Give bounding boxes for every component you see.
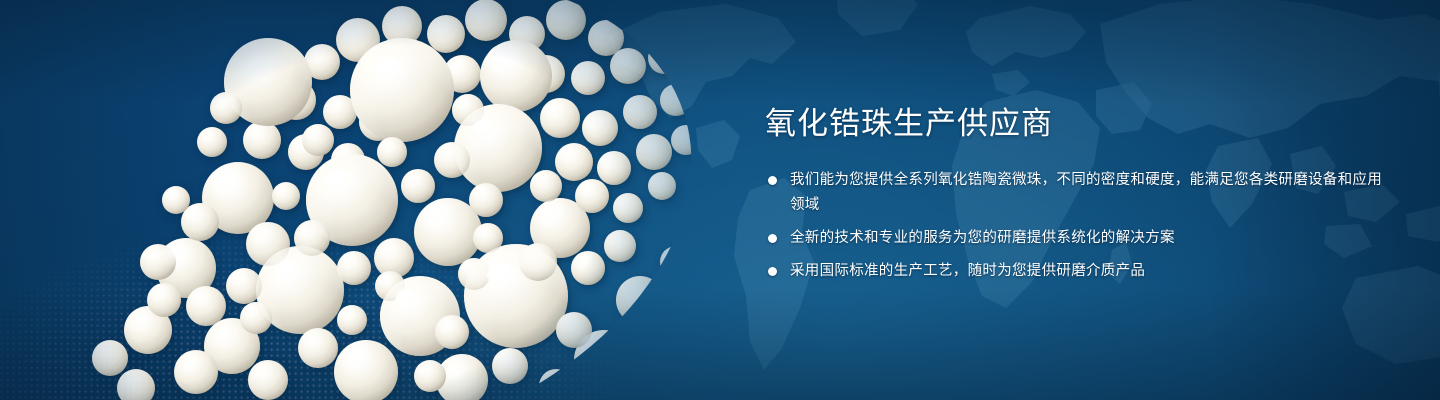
list-item: 采用国际标准的生产工艺，随时为您提供研磨介质产品 — [765, 259, 1385, 284]
banner-headline: 氧化锆珠生产供应商 — [765, 104, 1385, 144]
bullet-dot-icon — [768, 176, 777, 185]
list-item: 我们能为您提供全系列氧化锆陶瓷微珠，不同的密度和硬度，能满足您各类研磨设备和应用… — [765, 168, 1385, 218]
list-item: 全新的技术和专业的服务为您的研磨提供系统化的解决方案 — [765, 226, 1385, 251]
feature-bullet-list: 我们能为您提供全系列氧化锆陶瓷微珠，不同的密度和硬度，能满足您各类研磨设备和应用… — [765, 168, 1385, 284]
bullet-text: 全新的技术和专业的服务为您的研磨提供系统化的解决方案 — [790, 226, 1385, 251]
banner-copy: 氧化锆珠生产供应商 我们能为您提供全系列氧化锆陶瓷微珠，不同的密度和硬度，能满足… — [765, 104, 1385, 284]
zirconia-beads-image — [0, 0, 740, 400]
bullet-text: 采用国际标准的生产工艺，随时为您提供研磨介质产品 — [790, 259, 1385, 284]
bullet-dot-icon — [768, 267, 777, 276]
bullet-dot-icon — [768, 234, 777, 243]
hero-banner: 氧化锆珠生产供应商 我们能为您提供全系列氧化锆陶瓷微珠，不同的密度和硬度，能满足… — [0, 0, 1440, 400]
bullet-text: 我们能为您提供全系列氧化锆陶瓷微珠，不同的密度和硬度，能满足您各类研磨设备和应用… — [790, 168, 1385, 218]
